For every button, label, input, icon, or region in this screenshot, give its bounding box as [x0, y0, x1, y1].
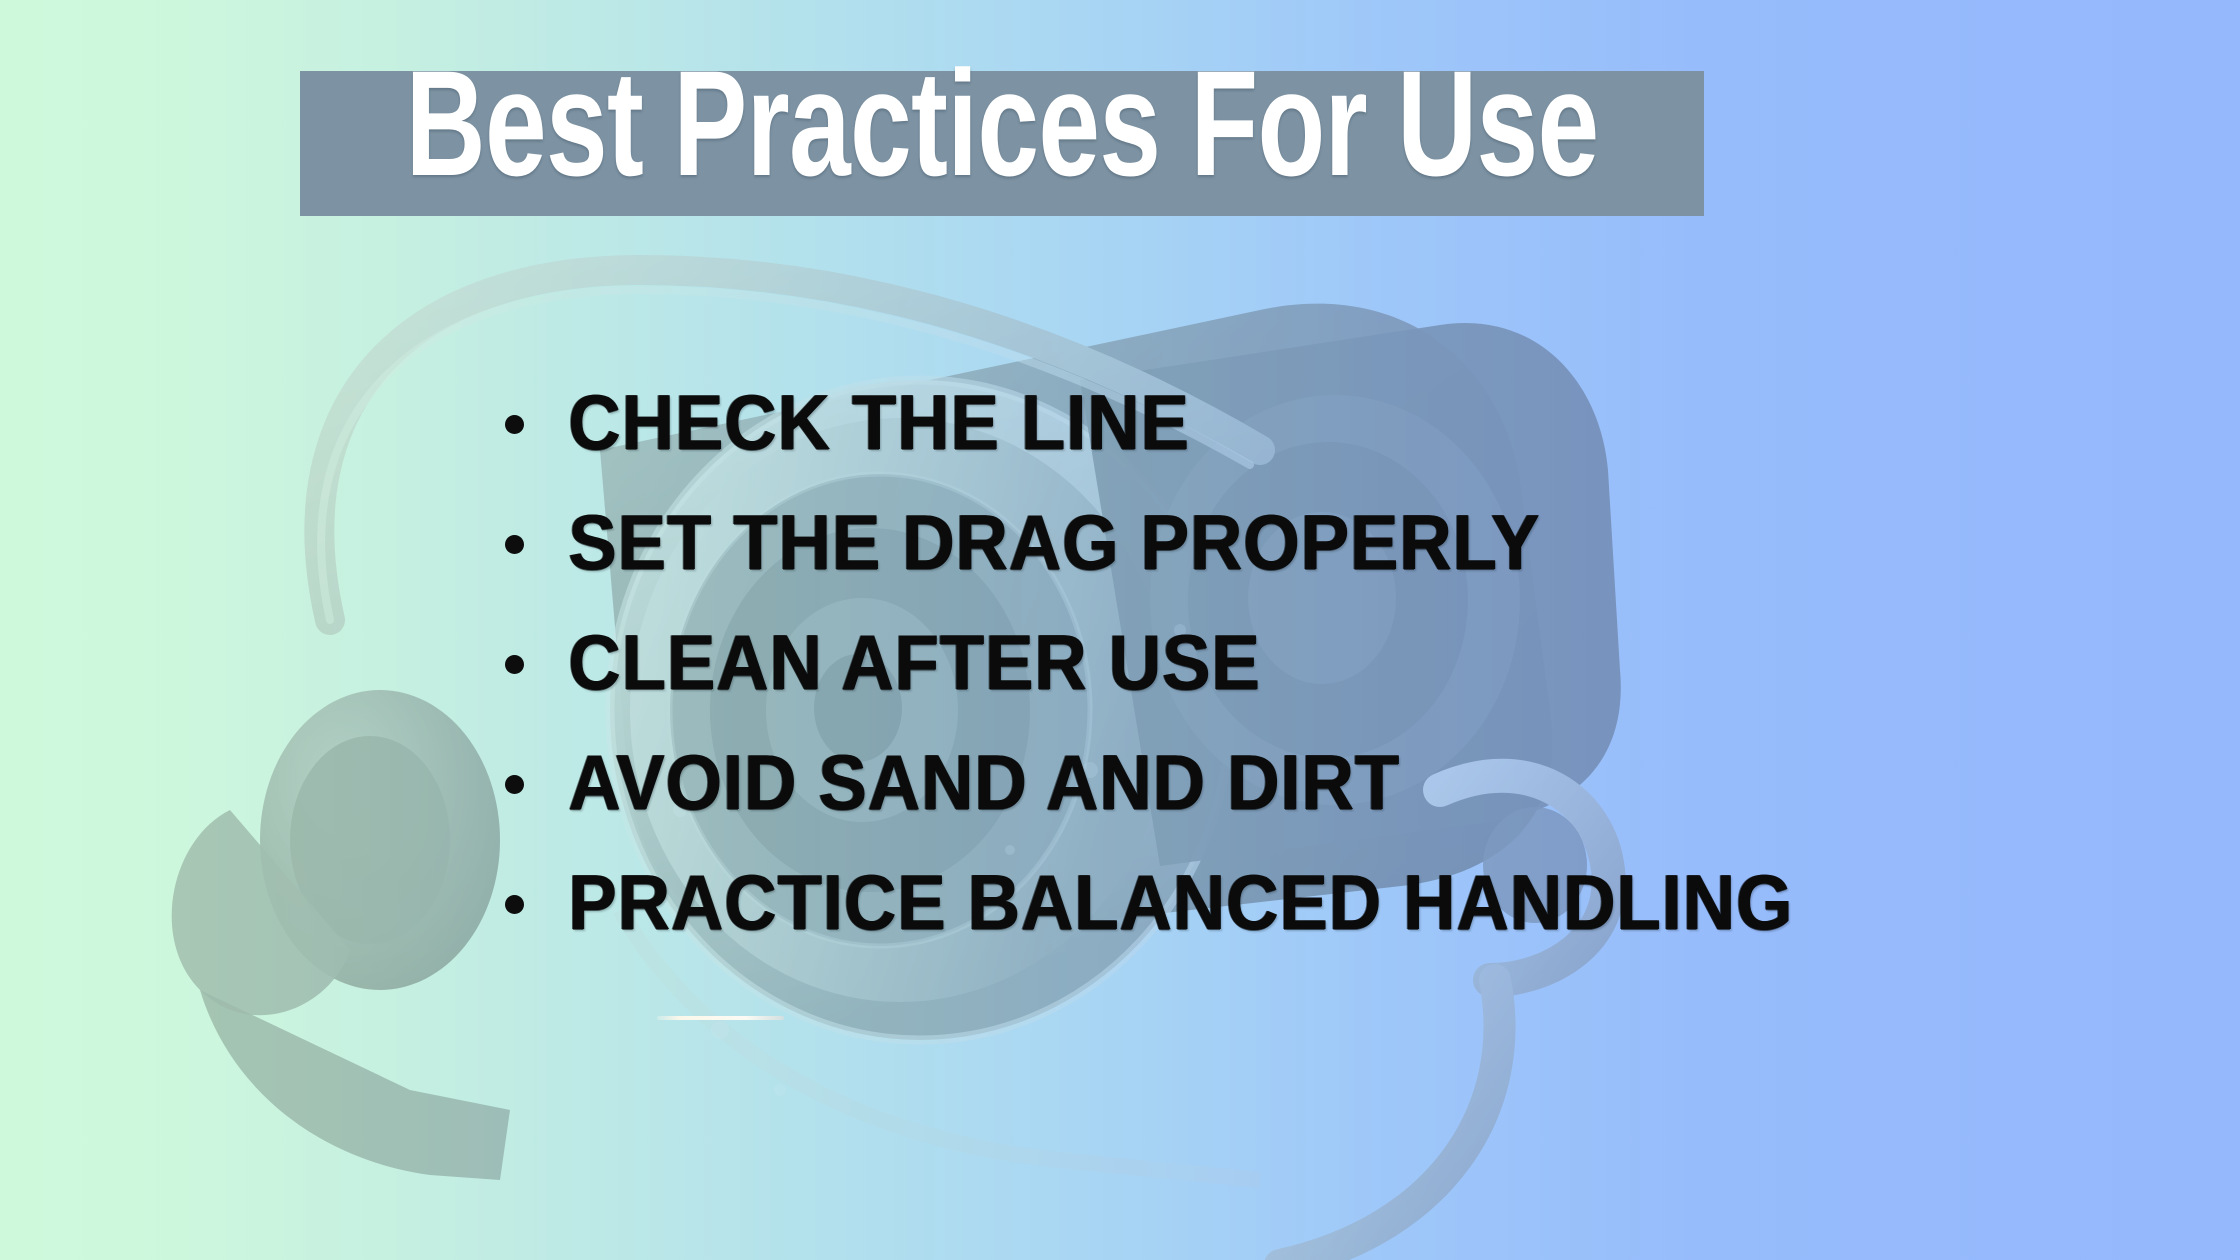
bullet-dot-icon	[505, 655, 524, 674]
list-item: AVOID SAND AND DIRT	[505, 722, 1905, 842]
bullet-dot-icon	[505, 775, 524, 794]
list-item: CLEAN AFTER USE	[505, 602, 1905, 722]
list-item-label: AVOID SAND AND DIRT	[568, 743, 1400, 821]
list-item-label: SET THE DRAG PROPERLY	[568, 503, 1540, 581]
list-item-label: CHECK THE LINE	[568, 383, 1190, 461]
bullet-dot-icon	[505, 535, 524, 554]
page-title: Best Practices For Use	[483, 48, 1522, 198]
list-item-label: PRACTICE BALANCED HANDLING	[568, 863, 1793, 941]
best-practices-list: CHECK THE LINE SET THE DRAG PROPERLY CLE…	[505, 362, 1905, 962]
bullet-dot-icon	[505, 415, 524, 434]
bullet-dot-icon	[505, 895, 524, 914]
list-item: CHECK THE LINE	[505, 362, 1905, 482]
list-item: SET THE DRAG PROPERLY	[505, 482, 1905, 602]
poster-canvas: Best Practices For Use CHECK THE LINE SE…	[0, 0, 2240, 1260]
list-item-label: CLEAN AFTER USE	[568, 623, 1260, 701]
decorative-divider	[657, 1016, 784, 1020]
list-item: PRACTICE BALANCED HANDLING	[505, 842, 1905, 962]
